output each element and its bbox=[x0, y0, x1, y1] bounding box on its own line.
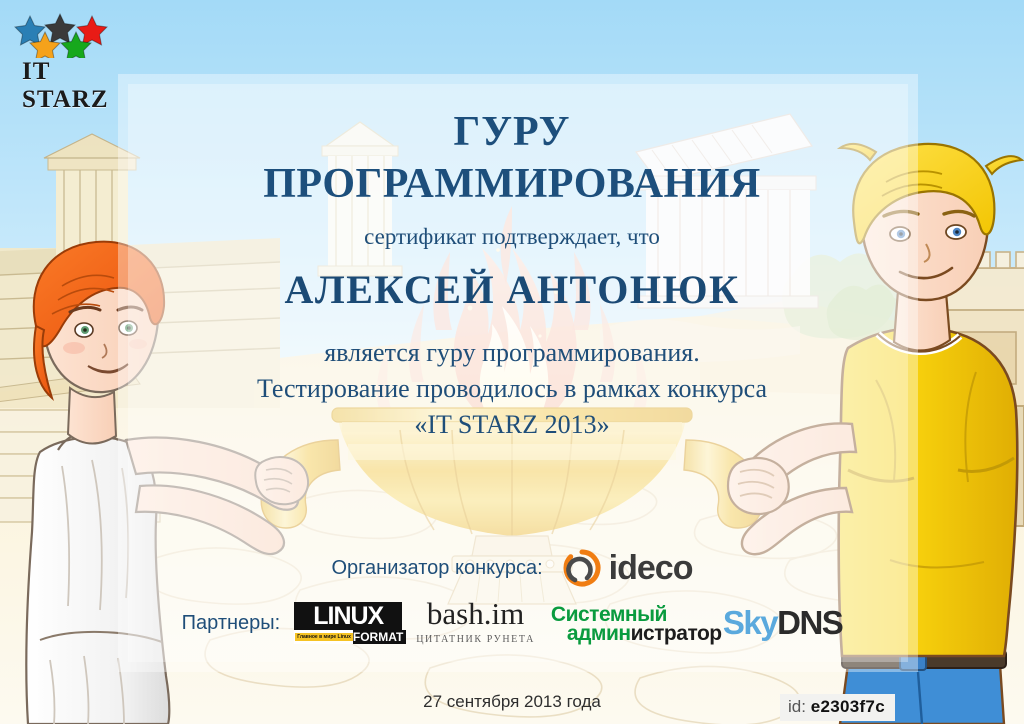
partners-row: Партнеры: LINUX Главное в мире Linux FOR… bbox=[0, 600, 1024, 646]
certificate-canvas: IT STARZ ГУРУ ПРОГРАММИРОВАНИЯ сертифика… bbox=[0, 0, 1024, 724]
recipient-name: АЛЕКСЕЙ АНТОНЮК bbox=[0, 266, 1024, 313]
certificate-subtitle: сертификат подтверждает, что bbox=[0, 224, 1024, 250]
skydns-part2: DNS bbox=[777, 604, 842, 641]
certificate-body-line1: является гуру программирования. bbox=[0, 338, 1024, 368]
sistemny-administrator-logo: Системный администратор bbox=[549, 602, 709, 644]
linux-format-logo: LINUX Главное в мире Linux FORMAT bbox=[294, 602, 402, 644]
linux-format-tagline: Главное в мире Linux bbox=[295, 633, 353, 641]
organizer-label: Организатор конкурса: bbox=[332, 557, 543, 580]
ideco-wordmark: ideco bbox=[609, 549, 693, 588]
organizer-row: Организатор конкурса: ideco bbox=[0, 548, 1024, 588]
bash-im-logo: bash.im ЦИТАТНИК РУНЕТА bbox=[416, 599, 535, 647]
linux-format-bottom-bar: Главное в мире Linux FORMAT bbox=[294, 630, 402, 644]
ideco-mark-icon bbox=[563, 549, 601, 587]
partners-label: Партнеры: bbox=[182, 612, 281, 635]
ideco-logo: ideco bbox=[563, 549, 693, 588]
skydns-part1: Sky bbox=[723, 604, 777, 641]
sysadmin-line2-dark: истратор bbox=[631, 622, 722, 645]
certificate-title-line2: ПРОГРАММИРОВАНИЯ bbox=[0, 160, 1024, 208]
certificate-id-value: e2303f7c bbox=[811, 697, 885, 716]
certificate-title-line1: ГУРУ bbox=[0, 108, 1024, 156]
certificate-body-line2: Тестирование проводилось в рамках конкур… bbox=[0, 374, 1024, 404]
sysadmin-line2-green: админ bbox=[567, 622, 631, 645]
certificate-id-label: id: bbox=[788, 697, 806, 716]
linux-format-bottom-text: FORMAT bbox=[353, 630, 406, 644]
certificate-id-badge: id: e2303f7c bbox=[780, 694, 895, 721]
bash-im-tagline: ЦИТАТНИК РУНЕТА bbox=[416, 634, 535, 645]
certificate-body-line3: «IT STARZ 2013» bbox=[0, 410, 1024, 440]
linux-format-top-text: LINUX bbox=[294, 602, 402, 630]
sysadmin-line2: администратор bbox=[567, 622, 722, 646]
bash-im-wordmark: bash.im bbox=[427, 596, 524, 631]
skydns-logo: SkyDNS bbox=[723, 604, 842, 642]
